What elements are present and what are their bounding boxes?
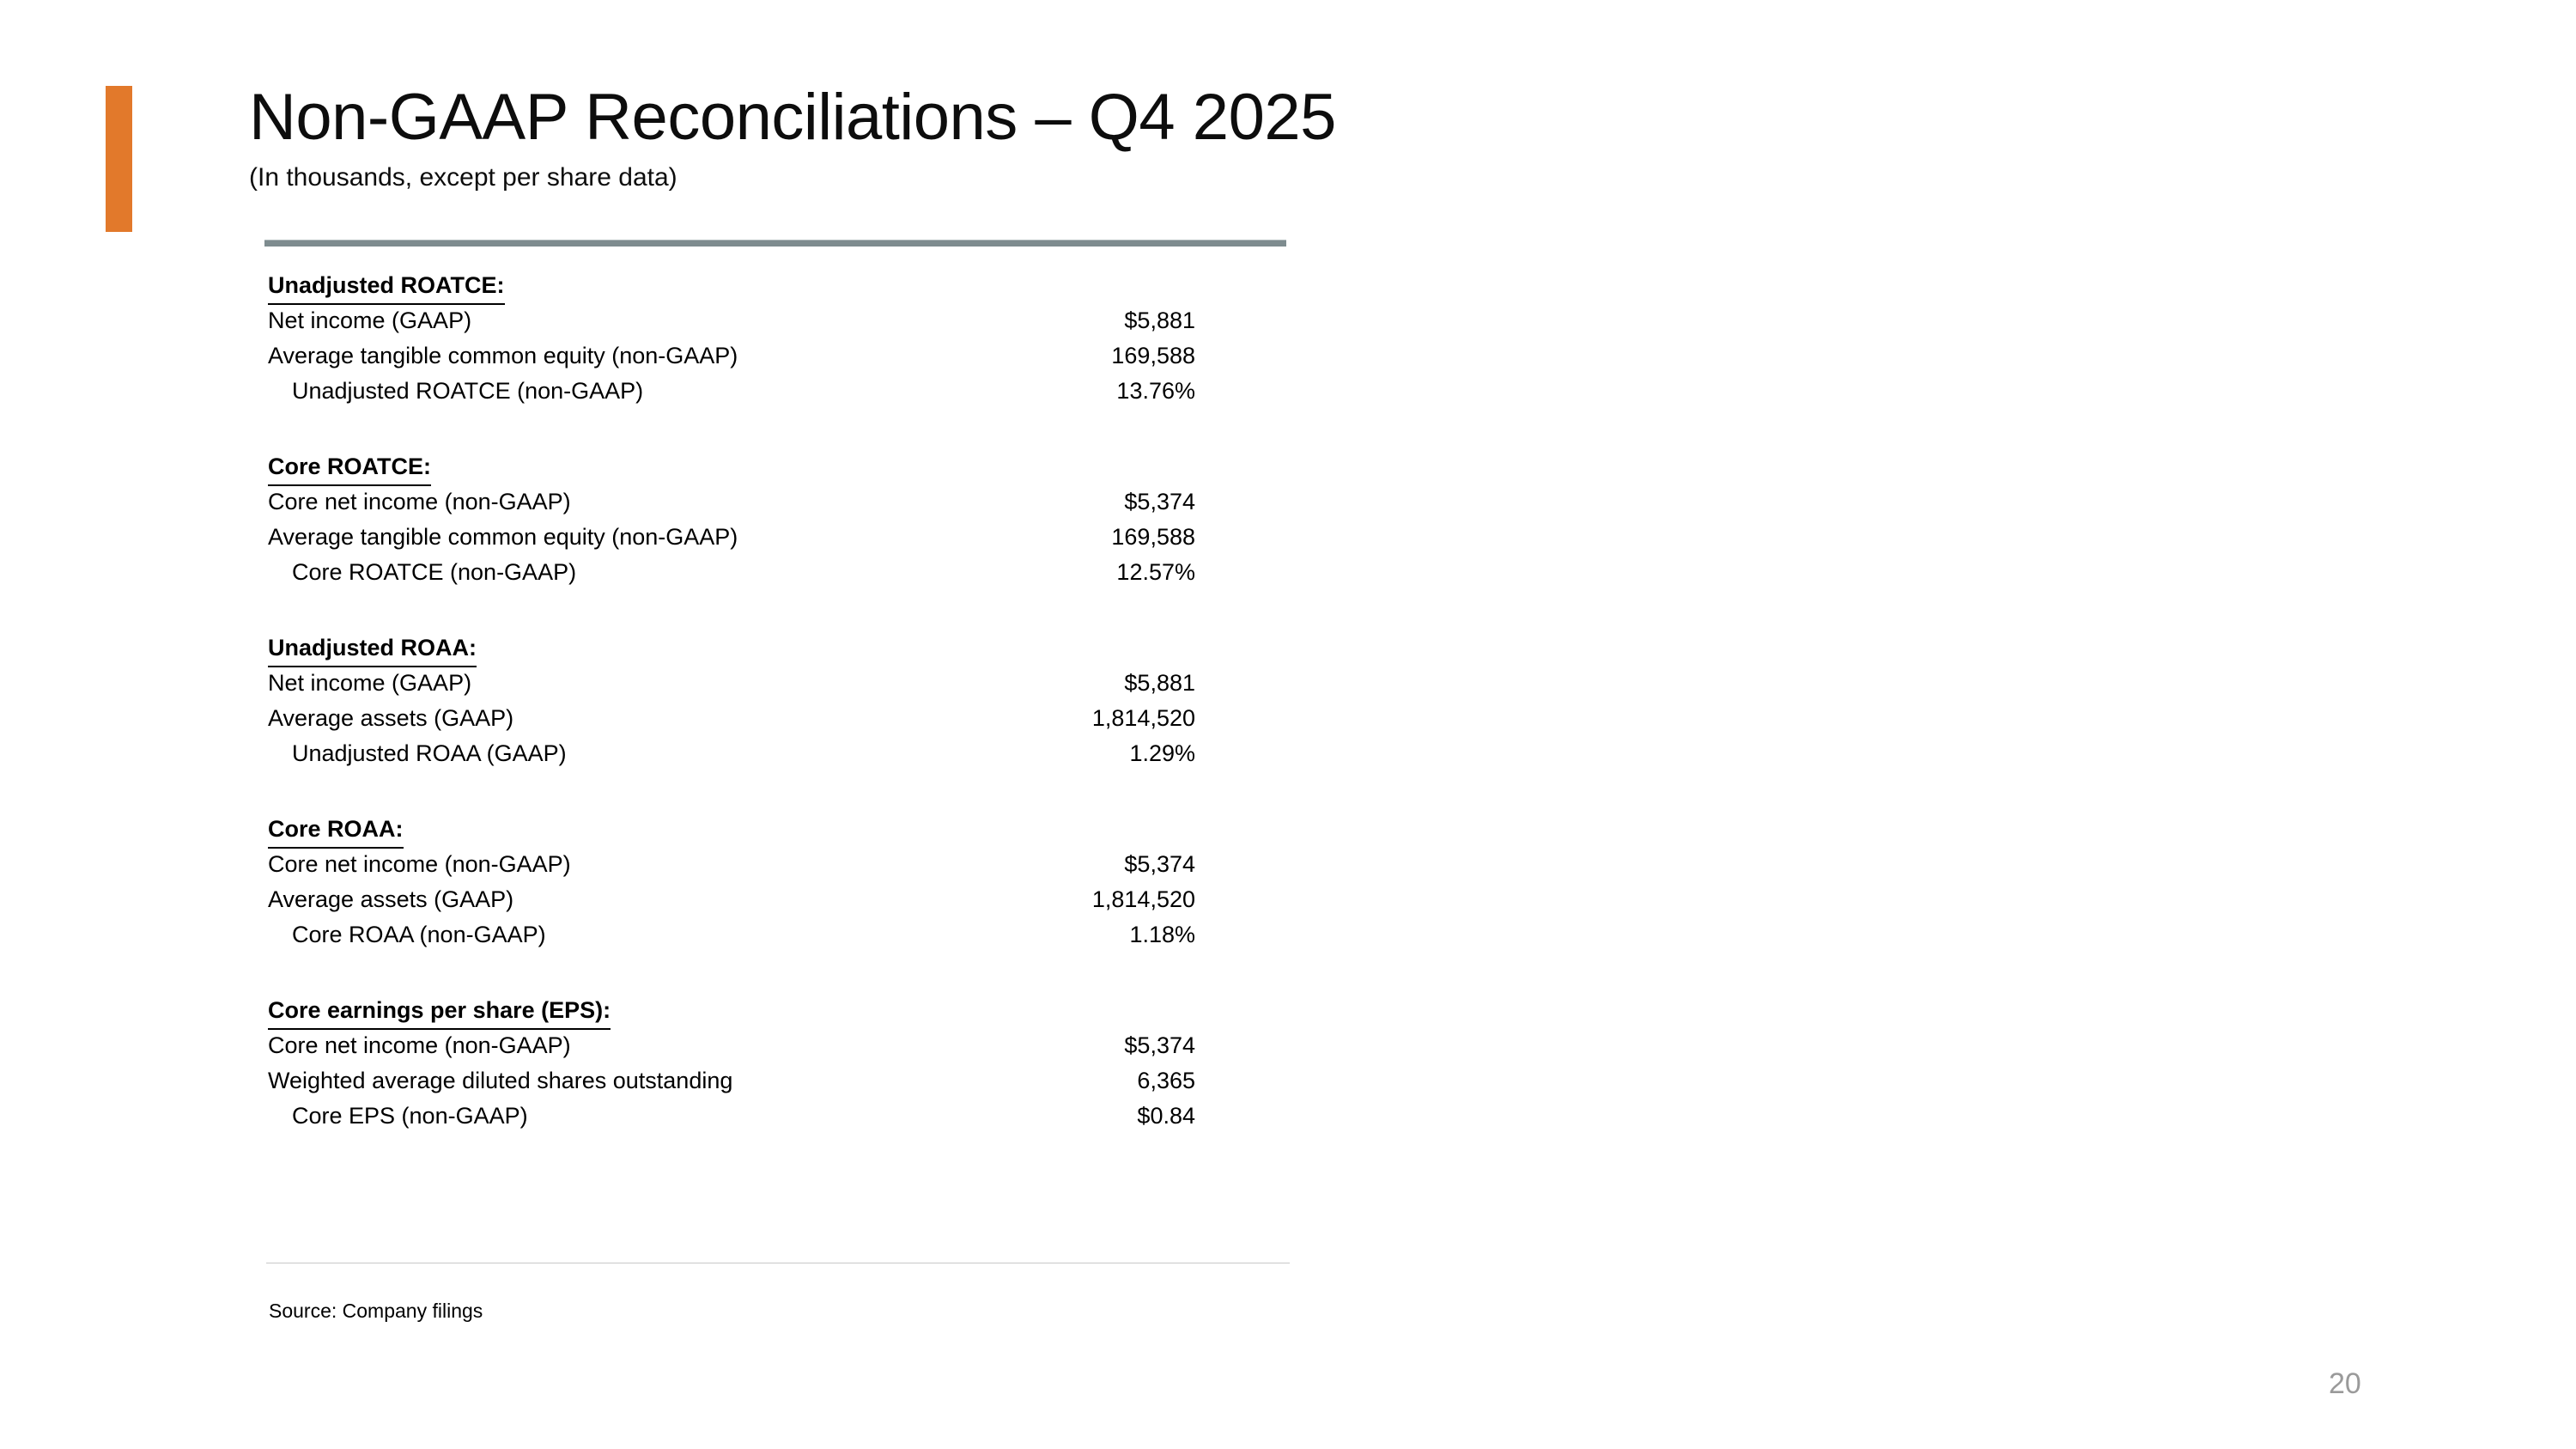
row-value: $5,374 [938,847,1195,882]
row-label: Core net income (non-GAAP) [268,847,938,882]
page-number: 20 [2329,1367,2361,1401]
table-row: Average tangible common equity (non-GAAP… [268,338,1195,374]
section-heading-row: Unadjusted ROATCE: [268,268,1195,303]
table-row: Unadjusted ROATCE (non-GAAP)13.76% [268,374,1195,409]
row-label: Average tangible common equity (non-GAAP… [268,520,938,555]
page-title: Non-GAAP Reconciliations – Q4 2025 [249,84,1966,151]
section-heading: Unadjusted ROATCE: [268,268,505,305]
section-heading: Core ROATCE: [268,449,431,486]
section-heading-row: Core earnings per share (EPS): [268,993,1195,1028]
row-value: 12.57% [938,555,1195,590]
section-heading: Core ROAA: [268,812,404,849]
row-value: $5,881 [938,303,1195,338]
source-note: Source: Company filings [269,1300,483,1323]
reconciliation-section: Core earnings per share (EPS):Core net i… [268,993,1195,1134]
row-value: 169,588 [938,520,1195,555]
row-value: $5,374 [938,484,1195,520]
reconciliation-section: Core ROAA:Core net income (non-GAAP)$5,3… [268,812,1195,953]
table-row: Weighted average diluted shares outstand… [268,1063,1195,1099]
row-value: 1.18% [938,917,1195,953]
table-row: Average tangible common equity (non-GAAP… [268,520,1195,555]
row-label: Core ROAA (non-GAAP) [268,917,938,953]
row-value: 6,365 [938,1063,1195,1099]
table-row: Core net income (non-GAAP)$5,374 [268,484,1195,520]
row-label: Net income (GAAP) [268,303,938,338]
reconciliation-table: Unadjusted ROATCE:Net income (GAAP)$5,88… [268,268,1195,1134]
row-value: 13.76% [938,374,1195,409]
row-value: 1,814,520 [938,882,1195,917]
row-value: $5,374 [938,1028,1195,1063]
row-label: Average assets (GAAP) [268,701,938,736]
accent-bar [106,86,132,232]
row-value: 1.29% [938,736,1195,771]
section-heading: Unadjusted ROAA: [268,630,477,667]
table-row: Average assets (GAAP)1,814,520 [268,701,1195,736]
row-label: Average tangible common equity (non-GAAP… [268,338,938,374]
table-row: Core ROAA (non-GAAP)1.18% [268,917,1195,953]
row-label: Average assets (GAAP) [268,882,938,917]
table-row: Core net income (non-GAAP)$5,374 [268,1028,1195,1063]
section-heading: Core earnings per share (EPS): [268,993,611,1030]
section-heading-row: Core ROAA: [268,812,1195,847]
section-heading-row: Core ROATCE: [268,449,1195,484]
row-label: Core net income (non-GAAP) [268,1028,938,1063]
row-value: 1,814,520 [938,701,1195,736]
row-label: Core ROATCE (non-GAAP) [268,555,938,590]
title-block: Non-GAAP Reconciliations – Q4 2025 (In t… [249,84,1966,192]
section-heading-row: Unadjusted ROAA: [268,630,1195,666]
row-label: Weighted average diluted shares outstand… [268,1063,938,1099]
reconciliation-section: Unadjusted ROATCE:Net income (GAAP)$5,88… [268,268,1195,409]
row-label: Net income (GAAP) [268,666,938,701]
table-row: Unadjusted ROAA (GAAP)1.29% [268,736,1195,771]
row-label: Unadjusted ROATCE (non-GAAP) [268,374,938,409]
header-divider [264,240,1286,247]
row-value: $0.84 [938,1099,1195,1134]
table-row: Core EPS (non-GAAP)$0.84 [268,1099,1195,1134]
row-label: Core EPS (non-GAAP) [268,1099,938,1134]
reconciliation-section: Unadjusted ROAA:Net income (GAAP)$5,881A… [268,630,1195,771]
table-row: Core net income (non-GAAP)$5,374 [268,847,1195,882]
table-row: Net income (GAAP)$5,881 [268,666,1195,701]
row-label: Core net income (non-GAAP) [268,484,938,520]
page-subtitle: (In thousands, except per share data) [249,163,1966,193]
table-row: Core ROATCE (non-GAAP)12.57% [268,555,1195,590]
slide-canvas: Non-GAAP Reconciliations – Q4 2025 (In t… [0,0,2576,1449]
footer-divider [266,1263,1290,1263]
row-label: Unadjusted ROAA (GAAP) [268,736,938,771]
table-row: Net income (GAAP)$5,881 [268,303,1195,338]
reconciliation-section: Core ROATCE:Core net income (non-GAAP)$5… [268,449,1195,590]
row-value: $5,881 [938,666,1195,701]
table-row: Average assets (GAAP)1,814,520 [268,882,1195,917]
row-value: 169,588 [938,338,1195,374]
